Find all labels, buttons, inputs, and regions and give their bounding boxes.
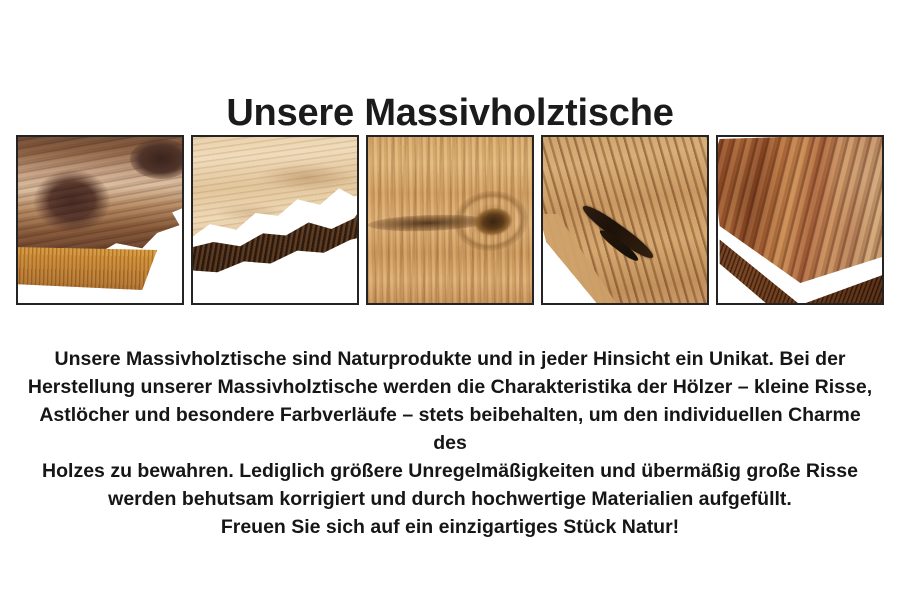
wood-photo-sawn-crack bbox=[543, 137, 707, 303]
wood-photo-rosewood-corner bbox=[718, 137, 882, 303]
description-paragraph: Unsere Massivholztische sind Naturproduk… bbox=[22, 345, 878, 541]
paragraph-line: Astlöcher und besondere Farbverläufe – s… bbox=[22, 401, 878, 457]
gallery-photo-1 bbox=[16, 135, 184, 305]
paragraph-line: Herstellung unserer Massivholztische wer… bbox=[22, 373, 878, 401]
wood-photo-grain-knot bbox=[368, 137, 532, 303]
paragraph-line: werden behutsam korrigiert und durch hoc… bbox=[22, 485, 878, 513]
gallery-photo-2 bbox=[191, 135, 359, 305]
paragraph-line: Freuen Sie sich auf ein einzigartiges St… bbox=[22, 513, 878, 541]
gallery-photo-4 bbox=[541, 135, 709, 305]
paragraph-line: Holzes zu bewahren. Lediglich größere Un… bbox=[22, 457, 878, 485]
wood-photo-light-live-edge bbox=[193, 137, 357, 303]
page-title: Unsere Massivholztische bbox=[0, 91, 900, 135]
gallery-photo-3 bbox=[366, 135, 534, 305]
paragraph-line: Unsere Massivholztische sind Naturproduk… bbox=[22, 345, 878, 373]
product-info-banner: Unsere Massivholztische bbox=[0, 0, 900, 600]
gallery-photo-5 bbox=[716, 135, 884, 305]
wood-sample-gallery bbox=[16, 135, 884, 307]
wood-photo-burl-edge bbox=[18, 137, 182, 303]
